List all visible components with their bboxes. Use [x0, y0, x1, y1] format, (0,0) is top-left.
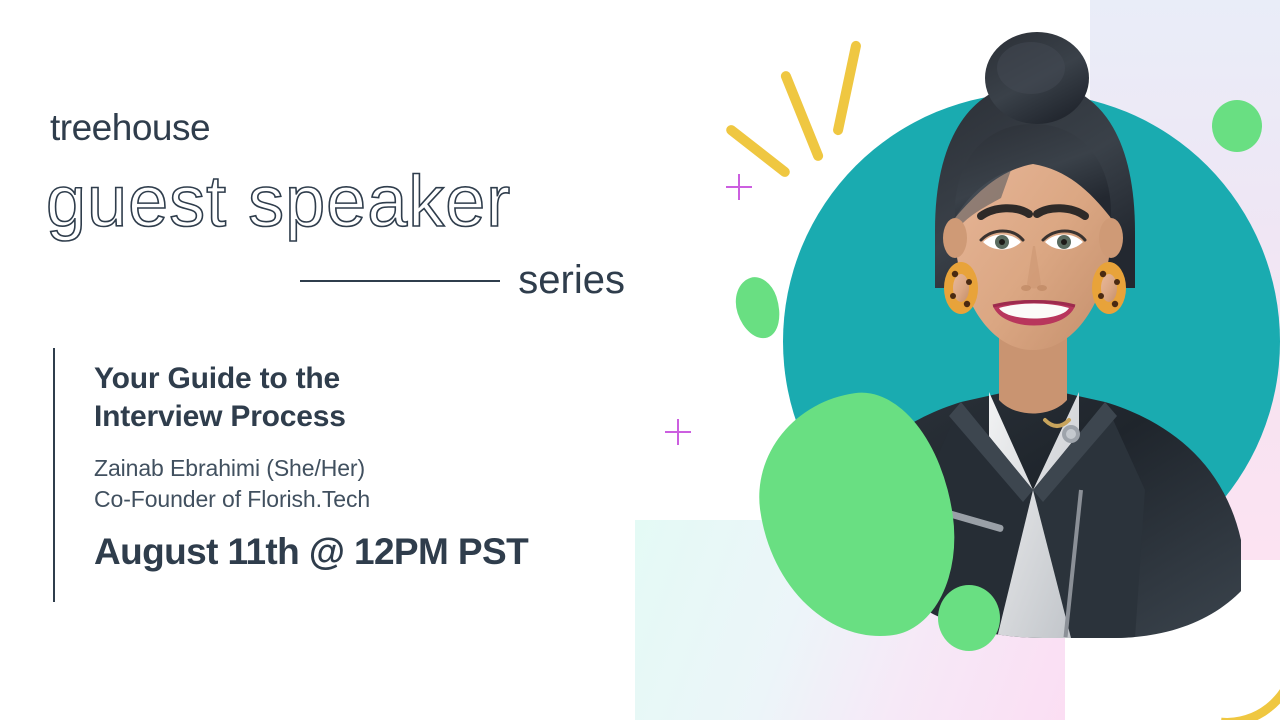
- series-label: series: [518, 258, 625, 303]
- brand-wordmark: treehouse: [50, 107, 210, 149]
- series-divider-rule: [300, 280, 500, 282]
- green-blob-small-icon: [728, 272, 787, 344]
- speaker-info: Zainab Ebrahimi (She/Her) Co-Founder of …: [94, 453, 528, 516]
- plus-mark-icon: [726, 174, 752, 200]
- talk-title-line-1: Your Guide to the: [94, 360, 528, 398]
- speaker-role: Co-Founder of Florish.Tech: [94, 484, 528, 515]
- earring-left: [944, 262, 978, 314]
- plus-mark-icon: [665, 419, 691, 445]
- guest-speaker-promo-slide: treehouse guest speaker series Your Guid…: [0, 0, 1280, 720]
- event-details-block: Your Guide to the Interview Process Zain…: [53, 348, 528, 602]
- earring-right: [1092, 262, 1126, 314]
- talk-title: Your Guide to the Interview Process: [94, 360, 528, 437]
- event-date-time: August 11th @ 12PM PST: [94, 531, 528, 573]
- green-dot-bottom-icon: [938, 585, 1000, 651]
- talk-title-line-2: Interview Process: [94, 398, 528, 436]
- headline-guest-speaker: guest speaker: [46, 166, 511, 238]
- series-lockup: series: [300, 258, 625, 303]
- yellow-sparkle-dash-icon: [724, 123, 792, 179]
- green-dot-top-right-icon: [1212, 100, 1262, 152]
- speaker-name: Zainab Ebrahimi (She/Her): [94, 453, 528, 484]
